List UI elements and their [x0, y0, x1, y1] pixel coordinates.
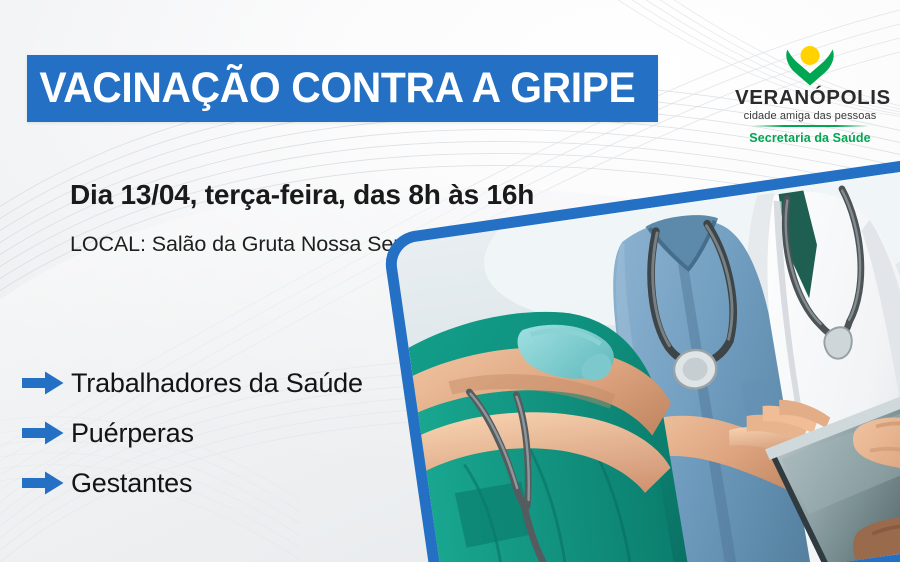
- page-title: VACINAÇÃO CONTRA A GRIPE: [27, 67, 635, 110]
- arrow-right-icon: [22, 471, 64, 495]
- arrow-right-icon: [22, 371, 64, 395]
- audience-list: Trabalhadores da Saúde Puérperas Gestant…: [22, 358, 412, 508]
- poster-title-banner: VACINAÇÃO CONTRA A GRIPE: [27, 55, 658, 122]
- healthcare-workers-photo: [394, 168, 900, 562]
- arrow-right-icon: [22, 421, 64, 445]
- list-item-label: Gestantes: [71, 468, 192, 499]
- list-item: Puérperas: [22, 408, 412, 458]
- logo-tagline: cidade amiga das pessoas: [735, 110, 885, 122]
- list-item: Gestantes: [22, 458, 412, 508]
- logo-department: Secretaria da Saúde: [735, 131, 885, 145]
- flu-vaccination-poster: VACINAÇÃO CONTRA A GRIPE VERANÓPOLIS cid…: [0, 0, 900, 562]
- logo-city-name: VERANÓPOLIS: [735, 87, 885, 109]
- list-item-label: Puérperas: [71, 418, 194, 449]
- list-item: Trabalhadores da Saúde: [22, 358, 412, 408]
- veranopolis-logo: VERANÓPOLIS cidade amiga das pessoas Sec…: [735, 44, 885, 145]
- logo-divider: [751, 125, 869, 127]
- event-date-line: Dia 13/04, terça-feira, das 8h às 16h: [70, 179, 534, 211]
- list-item-label: Trabalhadores da Saúde: [71, 368, 363, 399]
- veranopolis-person-v-icon: [735, 44, 885, 86]
